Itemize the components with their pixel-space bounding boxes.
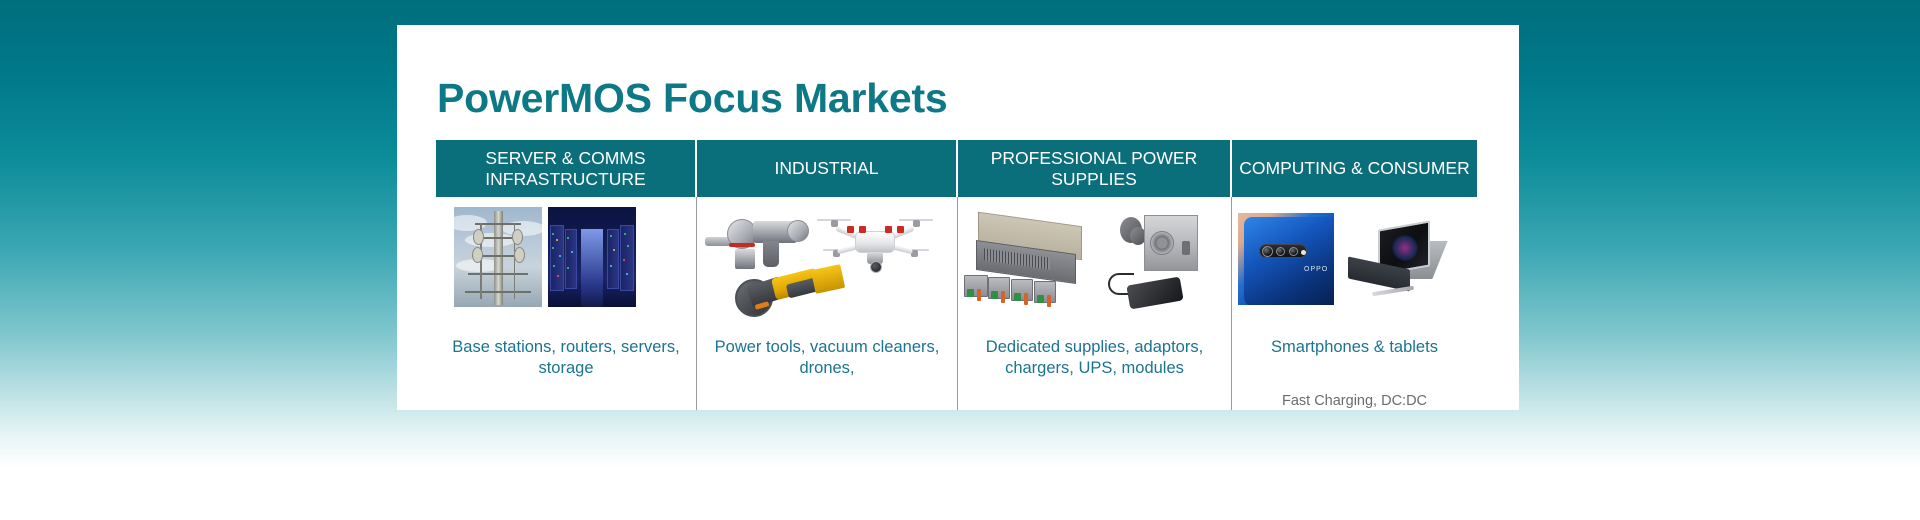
column-caption: Dedicated supplies, adaptors, chargers, … [969,337,1220,379]
cell-tower-photo [454,207,542,307]
column-caption: Smartphones & tablets [1242,337,1467,358]
column-caption: Power tools, vacuum cleaners, drones, [707,337,946,379]
quadcopter-drone [815,209,937,287]
blue-smartphone-photo: OPPO [1238,213,1334,305]
column-header-line2: SUPPLIES [991,169,1197,190]
table-header-row: SERVER & COMMS INFRASTRUCTURE INDUSTRIAL… [436,140,1477,197]
slide-canvas: PowerMOS Focus Markets SERVER & COMMS IN… [397,25,1519,410]
column-header-line1: INDUSTRIAL [774,158,878,179]
column-header-line1: COMPUTING & CONSUMER [1239,158,1469,179]
column-header-professional-power-supplies[interactable]: PROFESSIONAL POWER SUPPLIES [958,140,1232,197]
image-group-power-supplies [958,207,1231,319]
column-cell-professional-power-supplies: Dedicated supplies, adaptors, chargers, … [958,197,1232,410]
column-cell-computing-consumer: OPPO Smartphones & tablets Fast Charging… [1232,197,1477,410]
image-group-industrial [697,207,957,319]
column-caption: Base stations, routers, servers, storage [446,337,685,379]
column-detail: Fast Charging, DC:DC [1237,392,1472,410]
column-header-industrial[interactable]: INDUSTRIAL [697,140,958,197]
column-header-line2: INFRASTRUCTURE [485,169,645,190]
image-group-computing-consumer: OPPO [1232,207,1477,319]
atx-power-supply [1120,213,1202,277]
column-header-computing-consumer[interactable]: COMPUTING & CONSUMER [1232,140,1477,197]
column-header-line1: SERVER & COMMS [485,148,645,169]
page-title: PowerMOS Focus Markets [437,75,948,122]
rackmount-power-shelf [962,213,1086,305]
table-body-row: Base stations, routers, servers, storage… [436,197,1477,410]
column-header-server-comms[interactable]: SERVER & COMMS INFRASTRUCTURE [436,140,697,197]
data-center-photo [548,207,636,307]
phone-brand-mark: OPPO [1304,266,1328,273]
focus-markets-table: SERVER & COMMS INFRASTRUCTURE INDUSTRIAL… [436,140,1477,410]
laptop-power-adapter [1108,269,1192,311]
column-cell-industrial: Power tools, vacuum cleaners, drones, Br… [697,197,958,410]
column-header-line1: PROFESSIONAL POWER [991,148,1197,169]
image-group-server-comms [436,207,696,319]
column-cell-server-comms: Base stations, routers, servers, storage… [436,197,697,410]
detachable-tablet-laptop [1344,219,1462,303]
